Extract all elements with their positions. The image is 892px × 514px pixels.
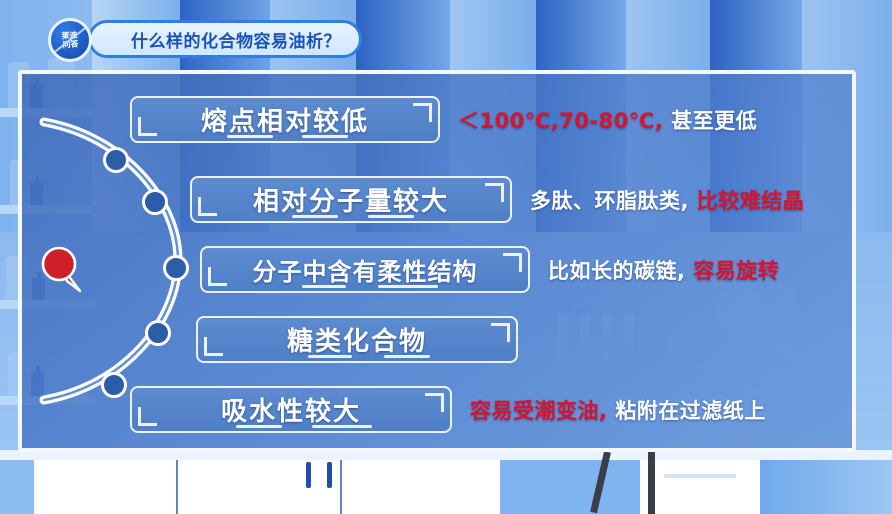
corner-bracket-icon (485, 183, 504, 202)
bg-cabinet-seam (176, 460, 178, 514)
corner-bracket-icon (503, 253, 522, 272)
underline-accent (368, 215, 414, 218)
underline-accent (236, 425, 282, 428)
bg-cabinet (640, 460, 760, 514)
title-pill: 什么样的化合物容易油析？ (88, 20, 362, 58)
row-chip-3[interactable]: 分子中含有柔性结构 (200, 246, 530, 293)
row-note-2-white: 多肽、环脂肽类, (530, 189, 689, 213)
corner-bracket-icon (138, 407, 157, 426)
underline-accent (384, 355, 430, 358)
row-note-3: 比如长的碳链, 容易旋转 (548, 255, 779, 285)
row-note-3-white: 比如长的碳链, (548, 259, 685, 283)
corner-bracket-icon (491, 323, 510, 342)
underline-accent (302, 135, 348, 138)
arc-node-4[interactable] (145, 320, 171, 346)
diagram-row-5: 吸水性较大 容易受潮变油, 粘附在过滤纸上 (130, 386, 766, 433)
bg-cabinet (0, 460, 34, 514)
row-label-4: 糖类化合物 (267, 321, 447, 358)
row-note-2: 多肽、环脂肽类, 比较难结晶 (530, 185, 804, 215)
page-title: 什么样的化合物容易油析？ (131, 27, 341, 52)
row-note-2-red: 比较难结晶 (697, 189, 805, 213)
underline-accent (308, 355, 352, 358)
bg-cabinet (760, 460, 892, 514)
diagram-row-2: 相对分子量较大 多肽、环脂肽类, 比较难结晶 (190, 176, 804, 223)
red-location-pin-icon[interactable] (40, 245, 84, 293)
bg-cabinet-seam (340, 460, 342, 514)
underline-accent (312, 425, 372, 428)
brand-circle-logo-icon: 莱迪 问答 (48, 18, 92, 62)
diagram-row-1: 熔点相对较低 ＜100℃,70-80℃, 甚至更低 (130, 96, 757, 143)
bg-cabinet (0, 460, 500, 514)
underline-accent (302, 285, 346, 288)
row-note-1-red: ＜100℃,70-80℃, (458, 109, 663, 133)
diagram-row-3: 分子中含有柔性结构 比如长的碳链, 容易旋转 (200, 246, 779, 293)
bg-cabinet-handle (306, 462, 311, 488)
bg-easel-leg (648, 452, 655, 514)
row-note-5-red: 容易受潮变油, (470, 399, 607, 423)
row-label-3: 分子中含有柔性结构 (233, 252, 498, 287)
corner-bracket-icon (204, 337, 223, 356)
row-chip-2[interactable]: 相对分子量较大 (190, 176, 512, 223)
diagram-row-4: 糖类化合物 (196, 316, 536, 363)
corner-bracket-icon (413, 103, 432, 122)
bg-cabinet (500, 460, 640, 514)
corner-bracket-icon (198, 197, 217, 216)
arc-node-5[interactable] (101, 372, 127, 398)
arc-node-1[interactable] (103, 147, 129, 173)
row-note-3-red: 容易旋转 (693, 259, 779, 283)
corner-bracket-icon (425, 393, 444, 412)
arc-node-2[interactable] (142, 189, 168, 215)
underline-accent (227, 135, 273, 138)
underline-accent (378, 285, 438, 288)
row-note-5-white: 粘附在过滤纸上 (615, 399, 766, 423)
row-label-1: 熔点相对较低 (181, 101, 389, 138)
row-label-5: 吸水性较大 (201, 391, 381, 428)
bg-cabinet-handle (327, 462, 332, 488)
row-note-1: ＜100℃,70-80℃, 甚至更低 (458, 105, 757, 135)
underline-accent (292, 215, 338, 218)
bg-cabinet-handle (664, 474, 736, 478)
row-chip-4[interactable]: 糖类化合物 (196, 316, 518, 363)
row-note-5: 容易受潮变油, 粘附在过滤纸上 (470, 395, 766, 425)
corner-bracket-icon (208, 267, 227, 286)
row-label-2: 相对分子量较大 (233, 181, 469, 218)
row-chip-1[interactable]: 熔点相对较低 (130, 96, 440, 143)
corner-bracket-icon (138, 117, 157, 136)
row-chip-5[interactable]: 吸水性较大 (130, 386, 452, 433)
arc-node-3[interactable] (163, 255, 189, 281)
row-note-1-white: 甚至更低 (671, 109, 757, 133)
screenshot-root: 什么样的化合物容易油析？ 莱迪 问答 熔点相对较低 ＜100℃,70-80℃, … (0, 0, 892, 514)
